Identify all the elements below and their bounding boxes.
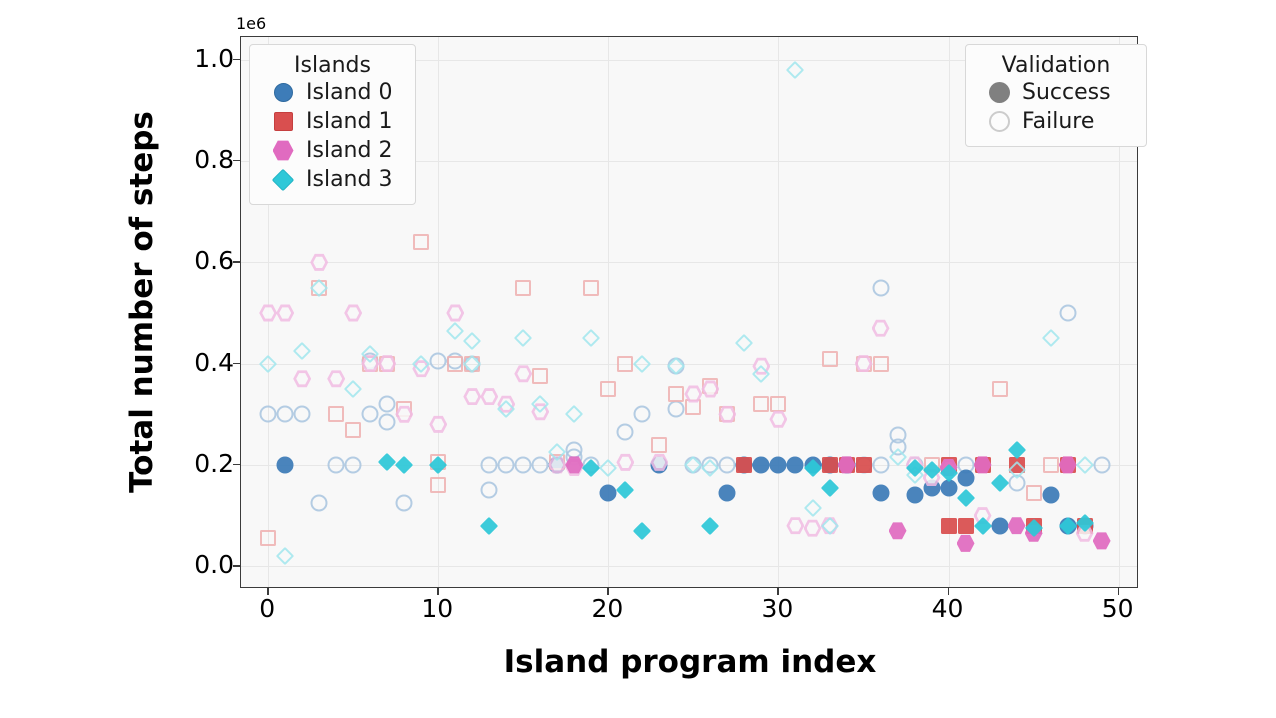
data-point-hexagon — [463, 388, 481, 406]
island-1-marker-icon — [260, 112, 306, 131]
data-point-circle — [277, 406, 294, 423]
data-point-circle — [787, 456, 804, 473]
data-point-circle — [1093, 456, 1110, 473]
data-point-circle — [668, 401, 685, 418]
data-point-diamond — [990, 473, 1008, 491]
data-point-hexagon — [327, 370, 345, 388]
data-point-square — [430, 477, 446, 493]
legend-failure-label: Failure — [1022, 109, 1094, 134]
data-point-square — [1043, 457, 1059, 473]
data-point-circle — [634, 406, 651, 423]
data-point-square — [668, 386, 684, 402]
y-axis-tick — [233, 261, 240, 262]
x-axis-tick-label: 40 — [908, 596, 988, 621]
data-point-circle — [770, 456, 787, 473]
data-point-circle — [719, 456, 736, 473]
data-point-hexagon — [310, 253, 328, 271]
legend-island-2-label: Island 2 — [306, 138, 392, 163]
data-point-hexagon — [293, 370, 311, 388]
data-point-square — [447, 356, 463, 372]
y-axis-tick-label: 0.2 — [154, 451, 234, 476]
data-point-diamond — [276, 547, 294, 565]
data-point-diamond — [378, 453, 396, 471]
y-axis-tick — [233, 363, 240, 364]
data-point-diamond — [514, 329, 532, 347]
data-point-hexagon — [769, 410, 787, 428]
data-point-circle — [872, 279, 889, 296]
data-point-diamond — [786, 61, 804, 79]
data-point-hexagon — [957, 534, 975, 552]
data-point-diamond — [701, 516, 719, 534]
data-point-square — [328, 406, 344, 422]
x-axis-tick-label: 0 — [227, 596, 307, 621]
data-point-circle — [906, 487, 923, 504]
data-point-diamond — [616, 481, 634, 499]
data-point-square — [873, 356, 889, 372]
island-0-marker-icon — [260, 83, 306, 102]
data-point-diamond — [820, 478, 838, 496]
data-point-circle — [379, 413, 396, 430]
data-point-circle — [1059, 305, 1076, 322]
data-point-diamond — [395, 456, 413, 474]
data-point-diamond — [259, 354, 277, 372]
data-point-diamond — [293, 342, 311, 360]
data-point-diamond — [956, 489, 974, 507]
data-point-square — [736, 457, 752, 473]
data-point-hexagon — [1008, 517, 1026, 535]
data-point-square — [992, 381, 1008, 397]
data-point-hexagon — [344, 304, 362, 322]
x-axis-tick-label: 20 — [567, 596, 647, 621]
data-point-hexagon — [480, 388, 498, 406]
data-point-diamond — [582, 329, 600, 347]
legend-item-island-1[interactable]: Island 1 — [260, 107, 405, 136]
data-point-square — [753, 396, 769, 412]
data-point-circle — [481, 482, 498, 499]
data-point-diamond — [803, 499, 821, 517]
data-point-circle — [719, 484, 736, 501]
y-axis-offset-text: 1e6 — [236, 14, 266, 33]
legend-item-island-2[interactable]: Island 2 — [260, 136, 405, 165]
data-point-square — [413, 234, 429, 250]
data-point-circle — [617, 424, 634, 441]
data-point-circle — [515, 456, 532, 473]
legend-islands-title: Islands — [260, 53, 405, 78]
legend-islands: Islands Island 0 Island 1 Island 2 Islan… — [249, 44, 416, 205]
data-point-circle — [481, 456, 498, 473]
data-point-square — [345, 422, 361, 438]
legend-item-island-3[interactable]: Island 3 — [260, 165, 405, 194]
y-axis-tick — [233, 464, 240, 465]
data-point-hexagon — [786, 517, 804, 535]
legend-item-success[interactable]: Success — [976, 78, 1136, 107]
data-point-diamond — [446, 321, 464, 339]
data-point-circle — [991, 517, 1008, 534]
data-point-square — [958, 518, 974, 534]
y-axis-tick — [233, 59, 240, 60]
y-axis-tick — [233, 565, 240, 566]
data-point-circle — [345, 456, 362, 473]
y-axis-tick-label: 0.6 — [154, 248, 234, 273]
data-point-square — [532, 368, 548, 384]
data-point-hexagon — [259, 304, 277, 322]
data-point-diamond — [1075, 456, 1093, 474]
data-point-diamond — [1041, 329, 1059, 347]
x-axis-label: Island program index — [240, 640, 1140, 684]
scatter-plot-figure: 1e6 Total number of steps Island program… — [0, 0, 1276, 718]
data-point-square — [515, 280, 531, 296]
data-point-square — [617, 356, 633, 372]
data-point-hexagon — [889, 522, 907, 540]
data-point-circle — [498, 456, 515, 473]
data-point-hexagon — [429, 415, 447, 433]
data-point-circle — [872, 456, 889, 473]
data-point-circle — [430, 353, 447, 370]
x-axis-tick-label: 50 — [1078, 596, 1158, 621]
data-point-circle — [532, 456, 549, 473]
data-point-diamond — [344, 380, 362, 398]
data-point-square — [600, 381, 616, 397]
data-point-diamond — [820, 516, 838, 534]
x-axis-tick-label: 30 — [737, 596, 817, 621]
data-point-square — [583, 280, 599, 296]
legend-validation-title: Validation — [976, 53, 1136, 78]
data-point-diamond — [735, 334, 753, 352]
legend-island-1-label: Island 1 — [306, 109, 392, 134]
data-point-hexagon — [276, 304, 294, 322]
y-axis-tick — [233, 160, 240, 161]
data-point-diamond — [633, 354, 651, 372]
data-point-circle — [600, 484, 617, 501]
y-axis-tick-label: 0.8 — [154, 147, 234, 172]
data-point-circle — [311, 494, 328, 511]
data-point-diamond — [599, 458, 617, 476]
data-point-hexagon — [872, 319, 890, 337]
data-point-hexagon — [446, 304, 464, 322]
data-point-hexagon — [514, 365, 532, 383]
y-axis-tick-label: 1.0 — [154, 46, 234, 71]
legend-item-island-0[interactable]: Island 0 — [260, 78, 405, 107]
legend-validation: Validation Success Failure — [965, 44, 1147, 147]
data-point-circle — [957, 469, 974, 486]
data-point-square — [260, 530, 276, 546]
data-point-circle — [362, 406, 379, 423]
data-point-circle — [379, 396, 396, 413]
data-point-square — [1026, 485, 1042, 501]
y-axis-tick-label: 0.0 — [154, 552, 234, 577]
data-point-circle — [294, 406, 311, 423]
data-point-hexagon — [804, 519, 822, 537]
data-point-diamond — [480, 516, 498, 534]
data-point-hexagon — [616, 453, 634, 471]
data-point-square — [941, 518, 957, 534]
data-point-hexagon — [1093, 532, 1111, 550]
data-point-square — [822, 457, 838, 473]
data-point-circle — [1042, 487, 1059, 504]
data-point-square — [856, 457, 872, 473]
island-2-marker-icon — [260, 140, 306, 161]
legend-item-failure[interactable]: Failure — [976, 107, 1136, 136]
failure-marker-icon — [976, 111, 1022, 132]
data-point-square — [651, 437, 667, 453]
legend-island-3-label: Island 3 — [306, 167, 392, 192]
data-point-circle — [328, 456, 345, 473]
island-3-marker-icon — [260, 172, 306, 188]
data-point-square — [822, 351, 838, 367]
data-point-circle — [872, 484, 889, 501]
data-point-diamond — [565, 405, 583, 423]
y-axis-tick-label: 0.4 — [154, 350, 234, 375]
success-marker-icon — [976, 82, 1022, 103]
data-point-circle — [277, 456, 294, 473]
legend-island-0-label: Island 0 — [306, 80, 392, 105]
data-point-circle — [753, 456, 770, 473]
data-point-circle — [396, 494, 413, 511]
data-point-circle — [260, 406, 277, 423]
data-point-square — [770, 396, 786, 412]
data-point-diamond — [463, 332, 481, 350]
data-point-diamond — [633, 522, 651, 540]
x-axis-tick-label: 10 — [397, 596, 477, 621]
legend-success-label: Success — [1022, 80, 1111, 105]
